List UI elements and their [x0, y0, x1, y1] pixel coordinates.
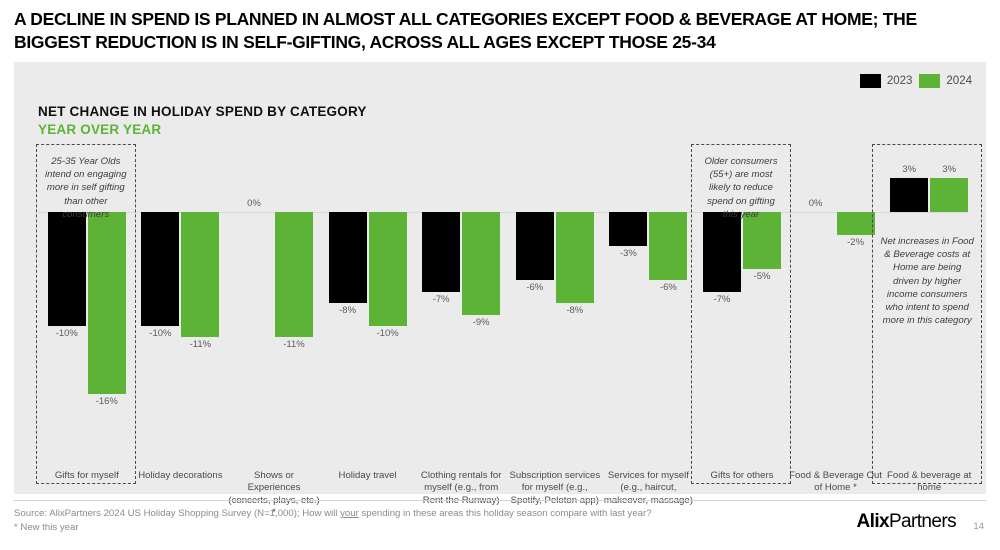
bar-2024: [556, 212, 594, 303]
category-label: Food & Beverage Out of Home *: [789, 470, 883, 495]
category-label: Services for myself (e.g., haircut, make…: [602, 470, 696, 507]
category-label: Clothing rentals for myself (e.g., from …: [414, 470, 508, 507]
bar-2024: [837, 212, 875, 235]
bar-2023: [422, 212, 460, 292]
bar-value-label: -9%: [459, 317, 503, 328]
page-number: 14: [973, 521, 984, 532]
callout-self-gifting-text: 25-35 Year Olds intend on engaging more …: [37, 155, 135, 221]
chart-plot-area: -10%-16%Gifts for myself-10%-11%Holiday …: [14, 62, 986, 494]
bar-2023: [141, 212, 179, 326]
bar-value-label: -10%: [366, 328, 410, 339]
source-note: Source: AlixPartners 2024 US Holiday Sho…: [14, 507, 652, 535]
source-line-1: Source: AlixPartners 2024 US Holiday Sho…: [14, 507, 652, 521]
source-line-2: * New this year: [14, 521, 652, 535]
category-label: Subscription services for myself (e.g., …: [508, 470, 602, 507]
bar-2024: [369, 212, 407, 326]
bar-value-label: -11%: [272, 339, 316, 350]
source-text-post: spending in these areas this holiday sea…: [359, 508, 652, 519]
alixpartners-logo: AlixPartners: [857, 511, 956, 533]
logo-regular-part: Partners: [889, 511, 956, 532]
bar-2024: [275, 212, 313, 337]
bar-group: -3%-6%Services for myself (e.g., haircut…: [602, 62, 696, 494]
category-label: Holiday decorations: [134, 470, 228, 482]
bar-2024: [462, 212, 500, 315]
bar-value-label: -6%: [646, 282, 690, 293]
bar-group: -7%-9%Clothing rentals for myself (e.g.,…: [414, 62, 508, 494]
bar-value-label: -8%: [326, 305, 370, 316]
bar-value-label: -6%: [513, 282, 557, 293]
bar-value-label: -7%: [419, 294, 463, 305]
bar-2023: [516, 212, 554, 280]
source-text-emphasis: your: [340, 508, 359, 519]
bar-value-label: 0%: [232, 198, 276, 209]
bar-2024: [181, 212, 219, 337]
source-text-pre: Source: AlixPartners 2024 US Holiday Sho…: [14, 508, 340, 519]
page-headline: A DECLINE IN SPEND IS PLANNED IN ALMOST …: [14, 8, 984, 54]
callout-older-consumers: Older consumers (55+) are most likely to…: [691, 144, 791, 484]
bar-2024: [649, 212, 687, 280]
callout-older-consumers-text: Older consumers (55+) are most likely to…: [692, 155, 790, 221]
bar-value-label: -10%: [138, 328, 182, 339]
chart-panel: 2023 2024 NET CHANGE IN HOLIDAY SPEND BY…: [14, 62, 986, 494]
callout-self-gifting: 25-35 Year Olds intend on engaging more …: [36, 144, 136, 484]
bar-value-label: 0%: [794, 198, 838, 209]
bar-group: -6%-8%Subscription services for myself (…: [508, 62, 602, 494]
category-label: Holiday travel: [321, 470, 415, 482]
bar-group: 0%-2%Food & Beverage Out of Home *: [789, 62, 883, 494]
bar-2023: [609, 212, 647, 246]
footer-divider: [14, 500, 986, 501]
bar-group: 0%-11%Shows or Experiences (concerts, pl…: [227, 62, 321, 494]
callout-food-beverage-home: Net increases in Food & Beverage costs a…: [872, 144, 982, 484]
bar-value-label: -3%: [606, 248, 650, 259]
callout-food-beverage-home-text: Net increases in Food & Beverage costs a…: [873, 235, 981, 328]
bar-value-label: -8%: [553, 305, 597, 316]
bar-value-label: -11%: [178, 339, 222, 350]
logo-bold-part: Alix: [857, 511, 889, 532]
bar-group: -10%-11%Holiday decorations: [134, 62, 228, 494]
bar-group: -8%-10%Holiday travel: [321, 62, 415, 494]
bar-value-label: -2%: [834, 237, 878, 248]
bar-2023: [329, 212, 367, 303]
